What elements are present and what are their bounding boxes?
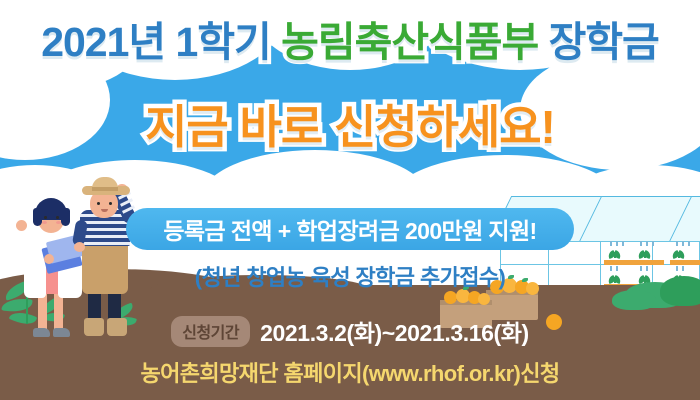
page-title: 2021년 1학기 농림축산식품부 장학금 [0,22,700,63]
headline-part-2: 농림축산식품부 [281,19,538,65]
website-line-text: 농어촌희망재단 홈페이지(www.rhof.or.kr)신청 [140,361,559,386]
benefit-pill-text: 등록금 전액 + 학업장려금 200만원 지원! [163,212,536,246]
headline-part-1: 2021년 1학기 [41,19,281,65]
sprout-icon [608,248,621,258]
sprout-icon [638,248,651,258]
page-subtitle: 지금 바로 신청하세요! [0,104,700,150]
period-badge: 신청기간 [171,316,250,347]
sprout-icon [672,248,685,258]
bush [612,290,656,310]
application-period-row: 신청기간 2021.3.2(화)~2021.3.16(화) [0,314,700,348]
benefit-note-text: (청년 창업농 육성 장학금 추가접수) [195,265,505,290]
benefit-note: (청년 창업농 육성 장학금 추가접수) [0,260,700,292]
headline-part-3: 장학금 [538,19,659,65]
website-line: 농어촌희망재단 홈페이지(www.rhof.or.kr)신청 [0,356,700,388]
benefit-pill: 등록금 전액 + 학업장려금 200만원 지원! [126,208,574,250]
period-date: 2021.3.2(화)~2021.3.16(화) [260,314,529,348]
scholarship-banner: 2021년 1학기 농림축산식품부 장학금 지금 바로 신청하세요! 등록금 전… [0,0,700,400]
subline-text: 지금 바로 신청하세요! [145,101,555,153]
